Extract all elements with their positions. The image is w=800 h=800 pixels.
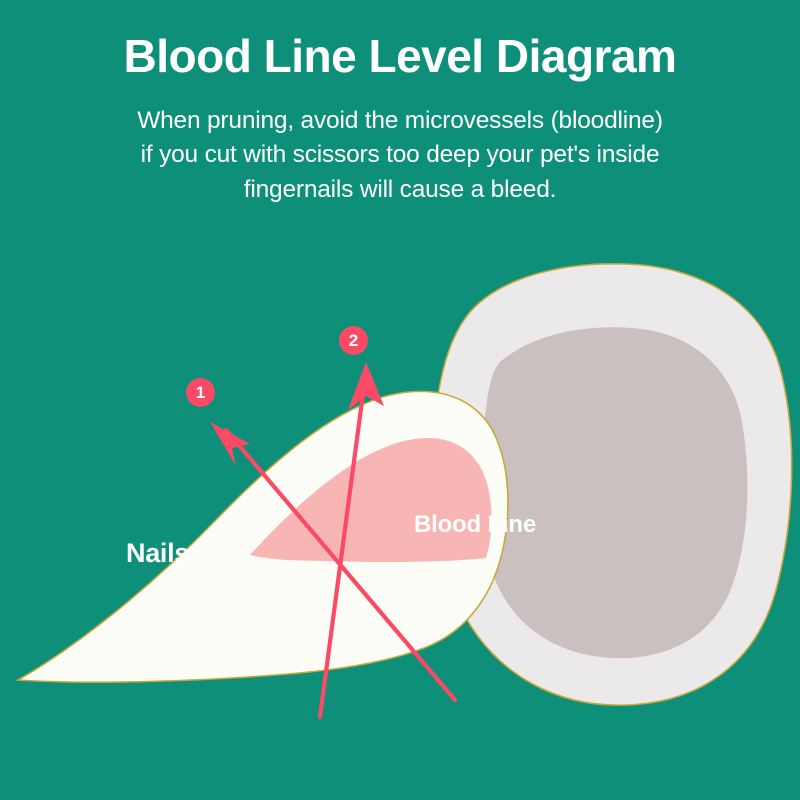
marker-badge-1[interactable]: 1	[186, 378, 215, 407]
header: Blood Line Level Diagram When pruning, a…	[0, 0, 800, 208]
marker-badge-2[interactable]: 2	[339, 326, 368, 355]
subtitle-line-3: fingernails will cause a bleed.	[70, 173, 730, 208]
subtitle-line-2: if you cut with scissors too deep your p…	[70, 138, 730, 173]
page-subtitle: When pruning, avoid the microvessels (bl…	[70, 82, 730, 208]
subtitle-line-1: When pruning, avoid the microvessels (bl…	[70, 104, 730, 139]
page-title: Blood Line Level Diagram	[0, 0, 800, 82]
nail-anatomy-diagram	[0, 250, 800, 800]
diagram-page: Blood Line Level Diagram When pruning, a…	[0, 0, 800, 800]
paw-pad-shape	[479, 327, 747, 658]
